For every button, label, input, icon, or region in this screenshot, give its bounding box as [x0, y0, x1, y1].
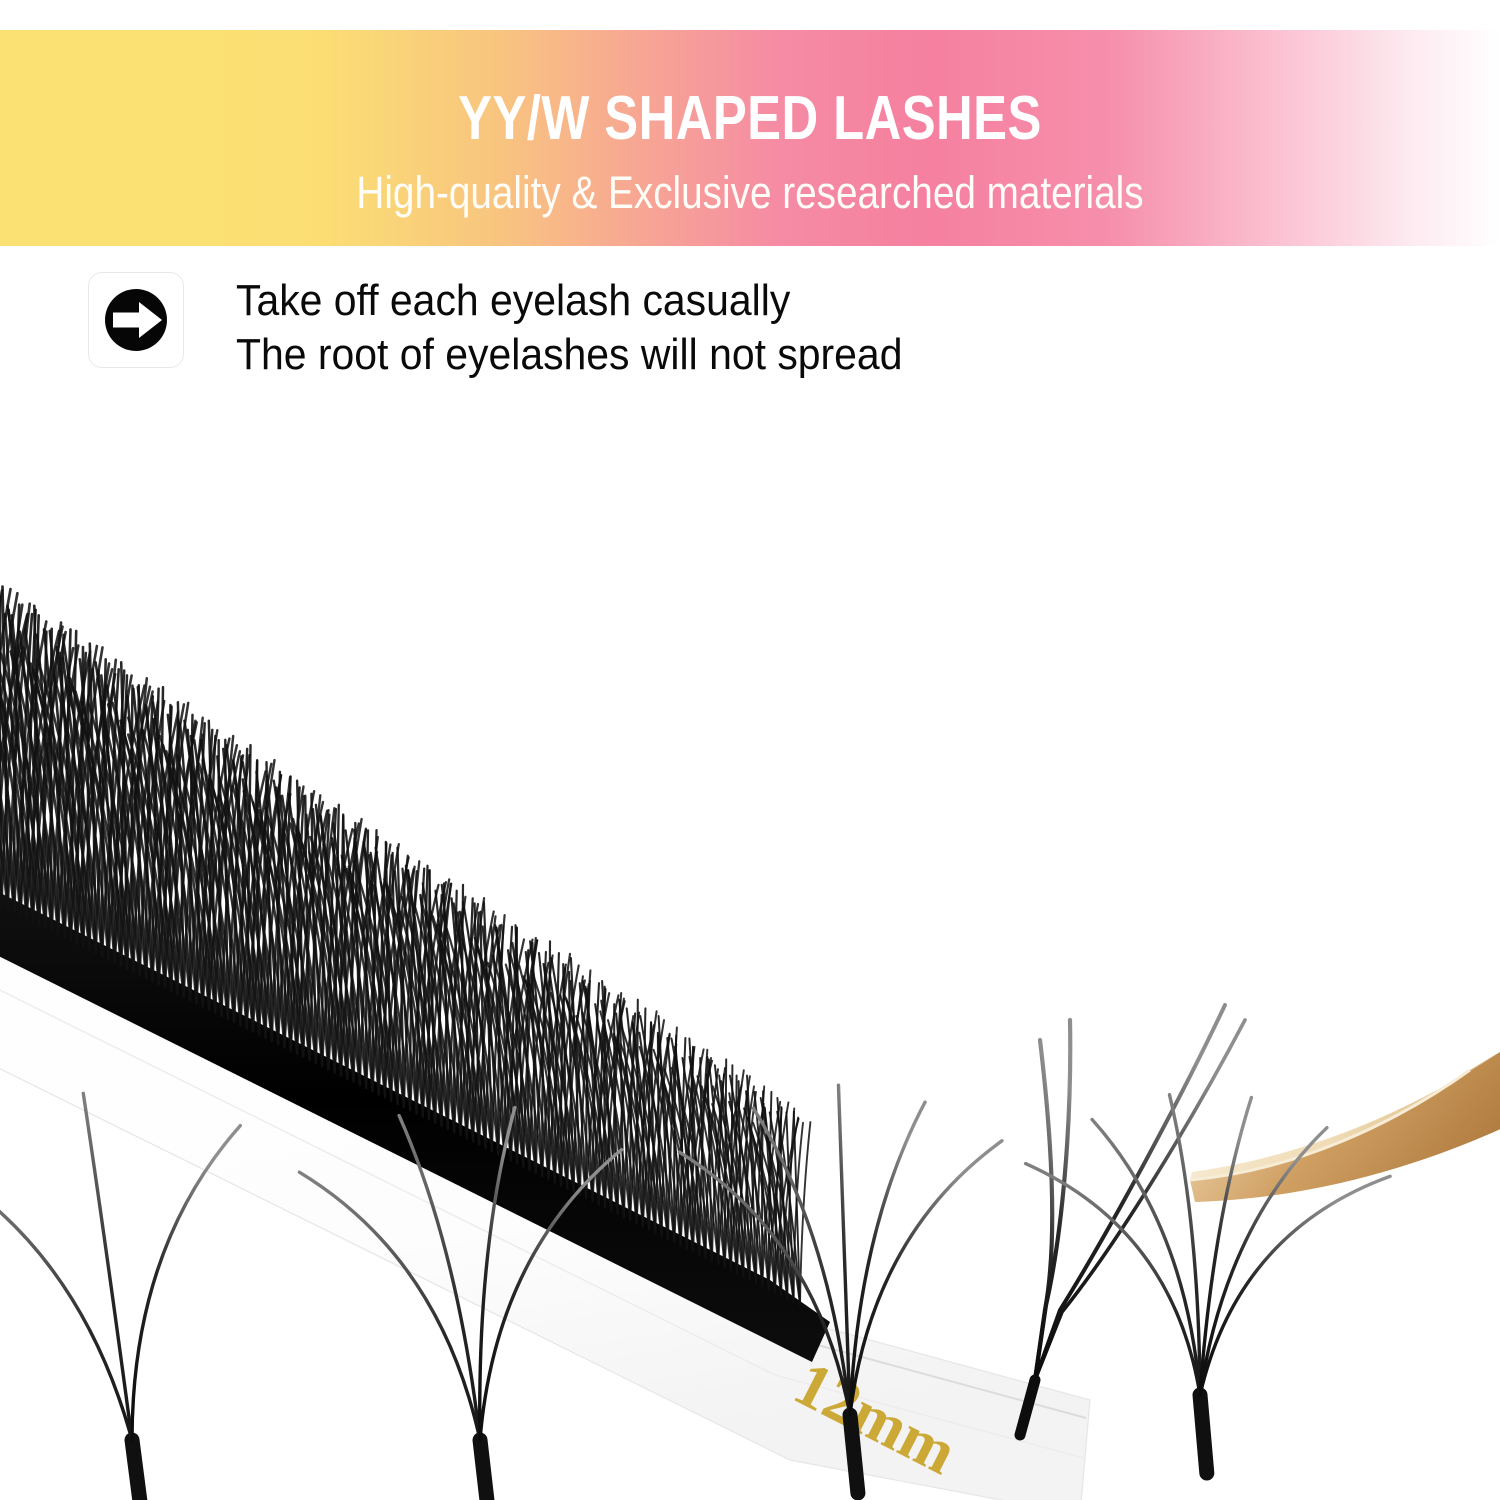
- arrow-right-circle-icon: [99, 283, 173, 357]
- fan-sample-2: [400, 1080, 730, 1500]
- header-banner: YY/W SHAPED LASHES High-quality & Exclus…: [0, 30, 1500, 246]
- fan-sample-1: [60, 1080, 390, 1500]
- instruction-icon-box: [88, 272, 184, 368]
- instruction-row: Take off each eyelash casually The root …: [88, 272, 953, 382]
- instruction-line-1: Take off each eyelash casually: [236, 274, 902, 328]
- instruction-line-2: The root of eyelashes will not spread: [236, 328, 902, 382]
- fan-sample-3: [760, 1110, 1090, 1500]
- instruction-text: Take off each eyelash casually The root …: [236, 272, 953, 382]
- page-title: YY/W SHAPED LASHES: [135, 88, 1365, 150]
- page-subtitle: High-quality & Exclusive researched mate…: [105, 170, 1395, 215]
- fan-sample-4: [1110, 1140, 1450, 1500]
- product-photo: 12mm: [0, 380, 1500, 1500]
